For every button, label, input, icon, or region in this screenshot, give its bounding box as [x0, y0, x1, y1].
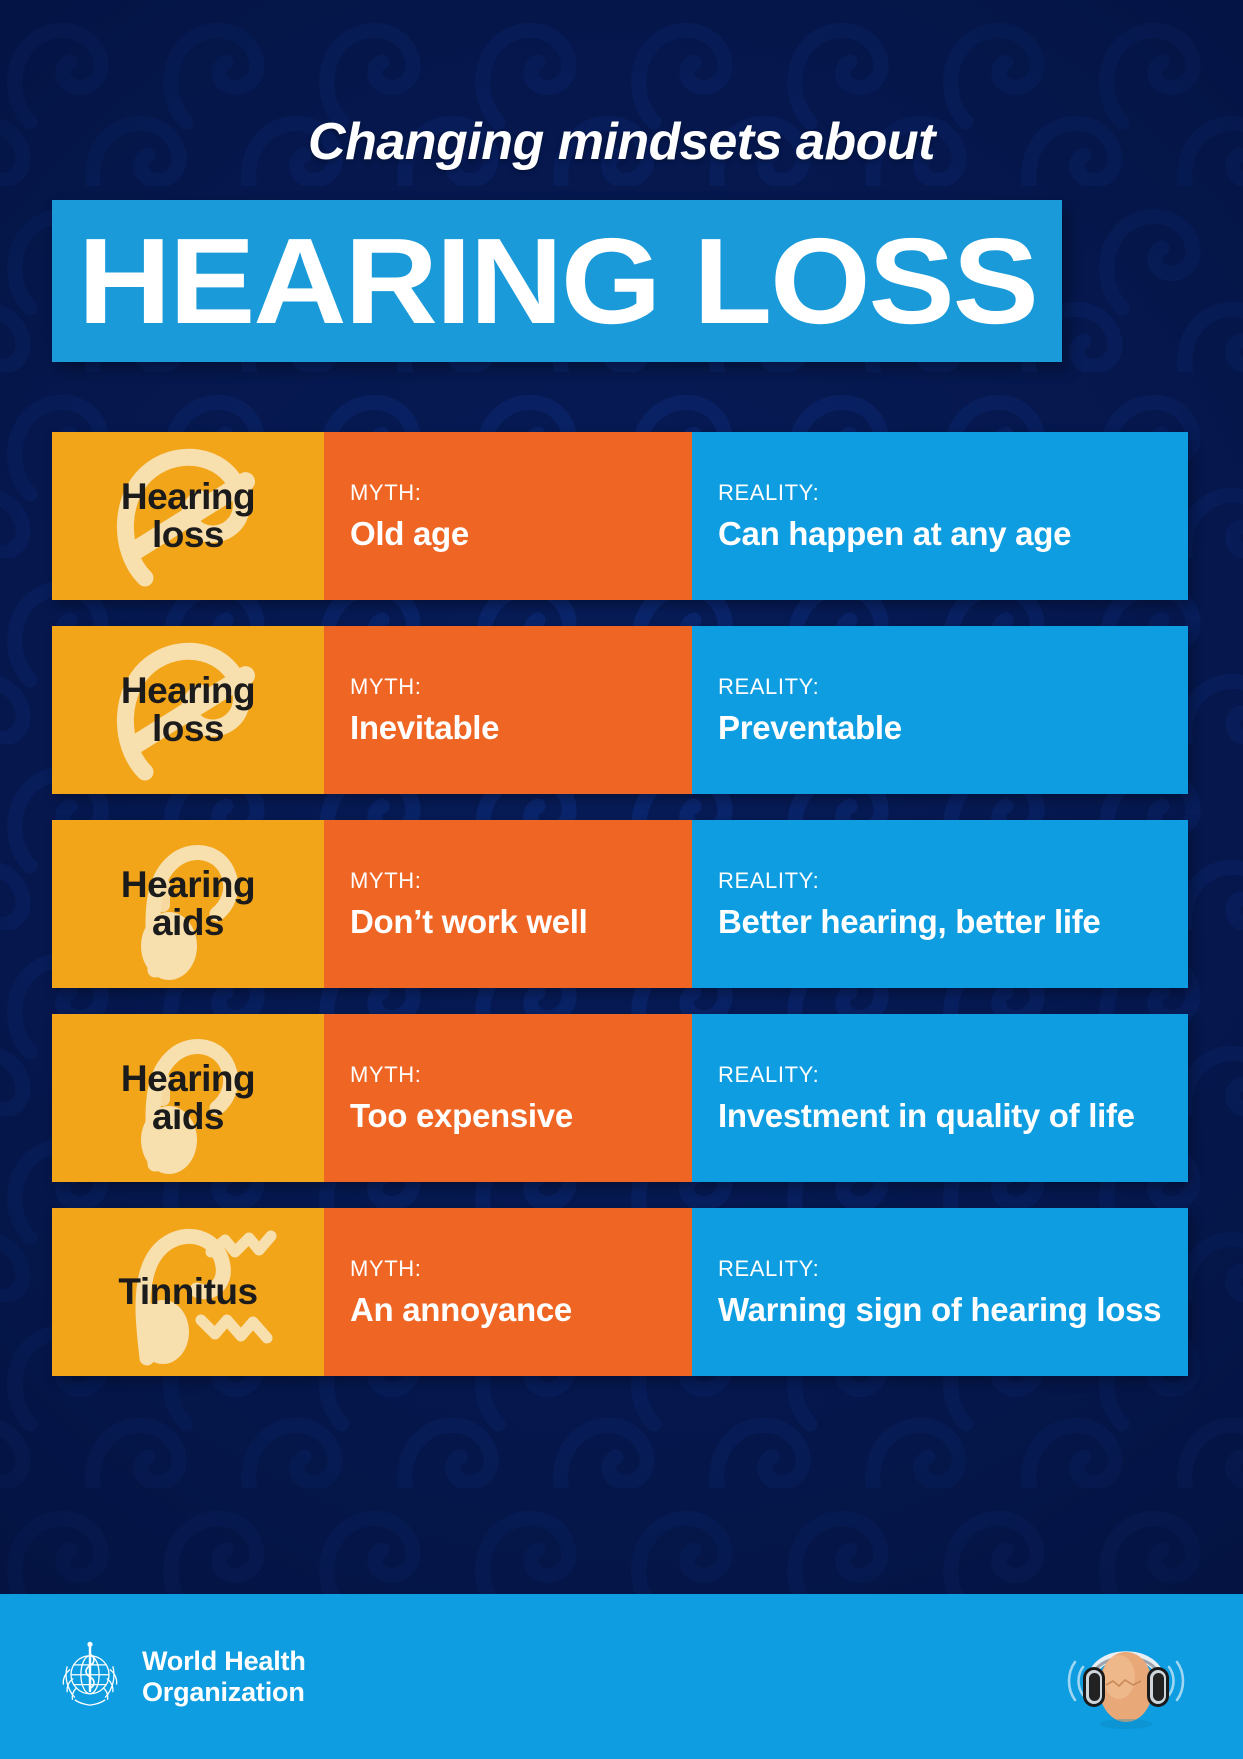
myth-cell: MYTH:Too expensive [324, 1014, 692, 1182]
myth-label: MYTH: [350, 1256, 666, 1282]
myth-reality-row: Hearing aidsMYTH:Too expensiveREALITY:In… [52, 1014, 1188, 1182]
poster-title-banner: HEARING LOSS [52, 200, 1062, 362]
reality-cell: REALITY:Preventable [692, 626, 1188, 794]
topic-cell: Hearing loss [52, 432, 324, 600]
who-name: World Health Organization [142, 1646, 306, 1707]
reality-text: Preventable [718, 709, 1162, 747]
reality-cell: REALITY:Investment in quality of life [692, 1014, 1188, 1182]
reality-label: REALITY: [718, 1256, 1162, 1282]
myth-reality-list: Hearing lossMYTH:Old ageREALITY:Can happ… [52, 432, 1188, 1376]
reality-text: Can happen at any age [718, 515, 1162, 553]
myth-label: MYTH: [350, 480, 666, 506]
myth-reality-row: TinnitusMYTH:An annoyanceREALITY:Warning… [52, 1208, 1188, 1376]
reality-text: Investment in quality of life [718, 1097, 1162, 1135]
reality-cell: REALITY:Better hearing, better life [692, 820, 1188, 988]
myth-cell: MYTH:Old age [324, 432, 692, 600]
reality-label: REALITY: [718, 480, 1162, 506]
topic-label: Hearing aids [113, 866, 263, 943]
myth-label: MYTH: [350, 868, 666, 894]
poster-footer: World Health Organization [0, 1594, 1243, 1759]
topic-cell: Tinnitus [52, 1208, 324, 1376]
topic-cell: Hearing aids [52, 1014, 324, 1182]
myth-text: Inevitable [350, 709, 666, 747]
myth-text: Old age [350, 515, 666, 553]
myth-cell: MYTH:An annoyance [324, 1208, 692, 1376]
myth-text: An annoyance [350, 1291, 666, 1329]
topic-label: Hearing loss [113, 672, 263, 749]
reality-cell: REALITY:Warning sign of hearing loss [692, 1208, 1188, 1376]
egg-with-headphones-icon [1061, 1621, 1191, 1733]
topic-cell: Hearing aids [52, 820, 324, 988]
reality-label: REALITY: [718, 868, 1162, 894]
topic-cell: Hearing loss [52, 626, 324, 794]
myth-reality-row: Hearing aidsMYTH:Don’t work wellREALITY:… [52, 820, 1188, 988]
reality-cell: REALITY:Can happen at any age [692, 432, 1188, 600]
myth-text: Too expensive [350, 1097, 666, 1135]
myth-label: MYTH: [350, 674, 666, 700]
reality-text: Better hearing, better life [718, 903, 1162, 941]
topic-label: Hearing aids [113, 1060, 263, 1137]
poster-canvas: Changing mindsets about HEARING LOSS Hea… [0, 0, 1243, 1759]
myth-cell: MYTH:Inevitable [324, 626, 692, 794]
topic-label: Hearing loss [113, 478, 263, 555]
who-logo: World Health Organization [52, 1639, 306, 1715]
poster-kicker: Changing mindsets about [0, 112, 1243, 172]
reality-text: Warning sign of hearing loss [718, 1291, 1162, 1329]
page-title: HEARING LOSS [78, 220, 1037, 342]
topic-label: Tinnitus [110, 1273, 265, 1311]
reality-label: REALITY: [718, 674, 1162, 700]
reality-label: REALITY: [718, 1062, 1162, 1088]
myth-reality-row: Hearing lossMYTH:InevitableREALITY:Preve… [52, 626, 1188, 794]
myth-text: Don’t work well [350, 903, 666, 941]
myth-label: MYTH: [350, 1062, 666, 1088]
who-emblem-icon [52, 1639, 128, 1715]
myth-cell: MYTH:Don’t work well [324, 820, 692, 988]
myth-reality-row: Hearing lossMYTH:Old ageREALITY:Can happ… [52, 432, 1188, 600]
